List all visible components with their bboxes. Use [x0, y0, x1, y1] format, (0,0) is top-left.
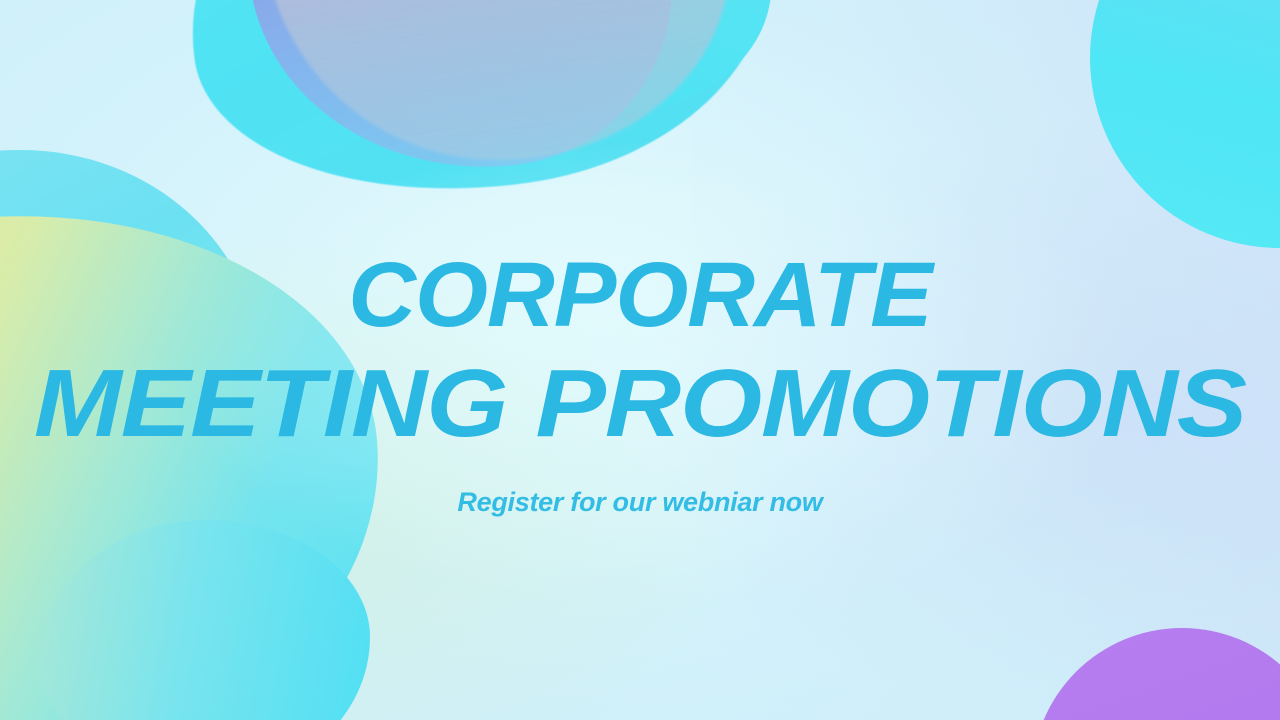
promo-slide: CORPORATE MEETING PROMOTIONS Register fo…: [0, 0, 1280, 720]
headline-line-2: MEETING PROMOTIONS: [0, 357, 1280, 451]
subtitle: Register for our webniar now: [0, 487, 1280, 518]
text-layer: CORPORATE MEETING PROMOTIONS Register fo…: [0, 0, 1280, 720]
headline-line-1: CORPORATE: [0, 250, 1280, 340]
